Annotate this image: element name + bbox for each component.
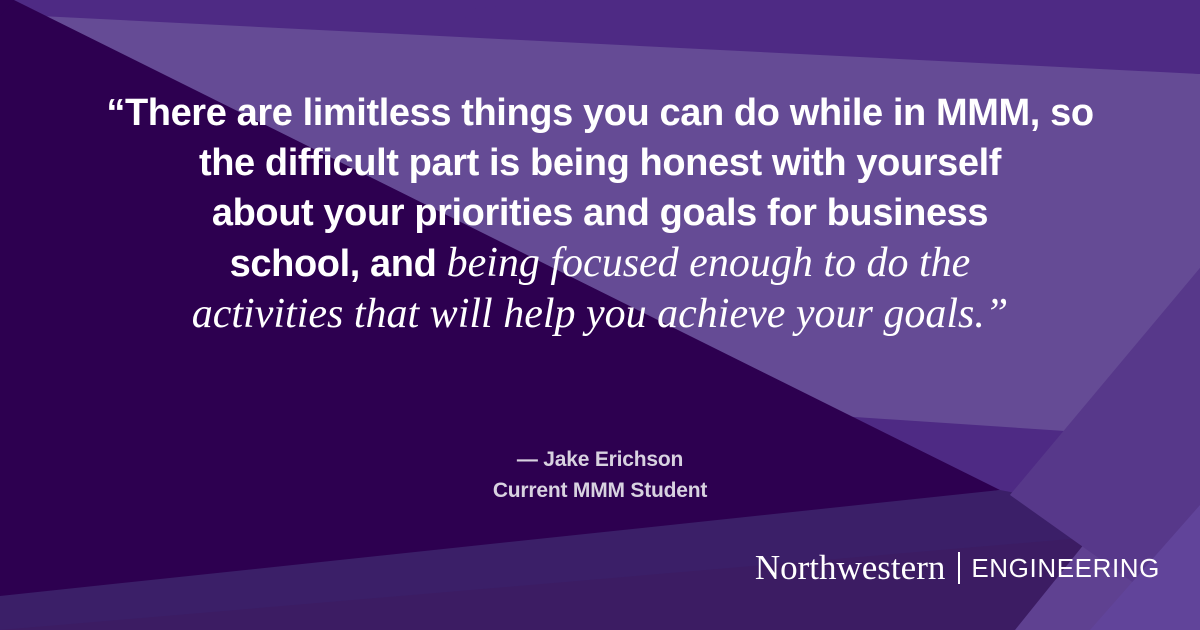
logo-wordmark: Northwestern xyxy=(755,550,946,586)
northwestern-engineering-logo: Northwestern ENGINEERING xyxy=(755,548,1160,588)
quote-block: “There are limitless things you can do w… xyxy=(0,88,1200,339)
attribution-role: Current MMM Student xyxy=(0,475,1200,506)
quote-line-4: school, and being focused enough to do t… xyxy=(60,238,1140,289)
logo-unit-name: ENGINEERING xyxy=(971,555,1160,582)
quote-line-5-italic: activities that will help you achieve yo… xyxy=(192,291,1009,337)
quote-line-2: the difficult part is being honest with … xyxy=(60,138,1140,188)
quote-line-1-bold: “There are limitless things you can do w… xyxy=(106,92,1093,134)
quote-line-3: about your priorities and goals for busi… xyxy=(60,188,1140,238)
quote-line-1: “There are limitless things you can do w… xyxy=(60,88,1140,138)
quote-line-5: activities that will help you achieve yo… xyxy=(60,289,1140,339)
quote-line-2-bold: the difficult part is being honest with … xyxy=(199,142,1001,184)
quote-line-3-bold: about your priorities and goals for busi… xyxy=(212,192,988,234)
quote-line-4-bold: school, and xyxy=(230,243,447,285)
quote-line-4-italic: being focused enough to do the xyxy=(447,240,971,286)
attribution-name: — Jake Erichson xyxy=(0,444,1200,475)
quote-card: “There are limitless things you can do w… xyxy=(0,0,1200,630)
attribution: — Jake Erichson Current MMM Student xyxy=(0,444,1200,506)
logo-divider-icon xyxy=(958,552,960,584)
